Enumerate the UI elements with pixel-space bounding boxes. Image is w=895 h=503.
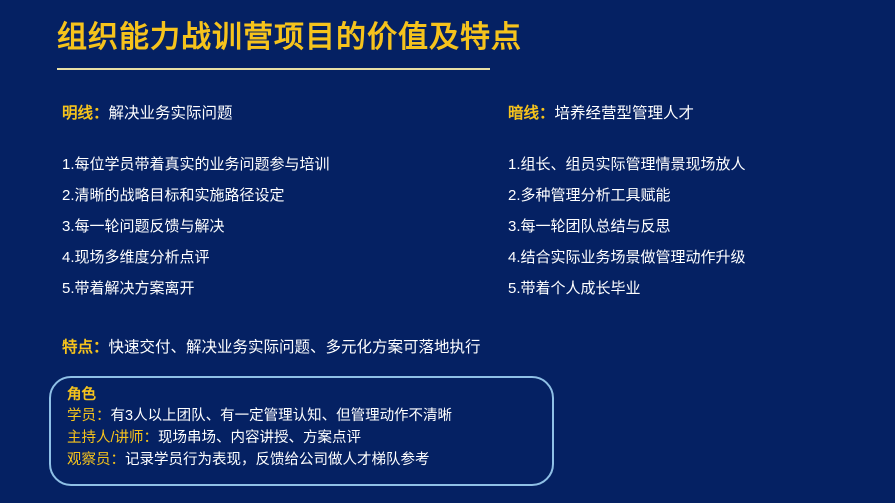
column-heading-anxian: 暗线：培养经营型管理人才 [508, 103, 895, 125]
role-label: 主持人/讲师 [67, 430, 144, 446]
role-item: 主持人/讲师：现场串场、内容讲授、方案点评 [67, 427, 552, 449]
role-item: 学员：有3人以上团队、有一定管理认知、但管理动作不清晰 [67, 405, 552, 427]
role-label: 学员 [67, 408, 96, 424]
list-item-number: 3. [508, 218, 521, 235]
list-item-number: 2. [62, 187, 75, 204]
list-item-text: 带着解决方案离开 [75, 280, 195, 297]
list-item-number: 3. [62, 218, 75, 235]
list-item: 3.每一轮问题反馈与解决 [62, 211, 470, 242]
list-item-number: 4. [508, 249, 521, 266]
features-line: 特点：快速交付、解决业务实际问题、多元化方案可落地执行 [62, 337, 481, 359]
column-label-mingxian: 明线 [62, 105, 93, 122]
list-item-number: 4. [62, 249, 75, 266]
role-label: 观察员 [67, 452, 111, 468]
content-columns: 明线：解决业务实际问题 1.每位学员带着真实的业务问题参与培训 2.清晰的战略目… [0, 103, 895, 304]
item-list-anxian: 1.组长、组员实际管理情景现场放人 2.多种管理分析工具赋能 3.每一轮团队总结… [508, 149, 895, 304]
roles-box: 角色 学员：有3人以上团队、有一定管理认知、但管理动作不清晰 主持人/讲师：现场… [49, 376, 554, 486]
list-item: 2.多种管理分析工具赋能 [508, 180, 895, 211]
role-value: 有3人以上团队、有一定管理认知、但管理动作不清晰 [111, 408, 453, 424]
list-item-text: 组长、组员实际管理情景现场放人 [521, 156, 746, 173]
page-title: 组织能力战训营项目的价值及特点 [57, 18, 817, 58]
features-value: 快速交付、解决业务实际问题、多元化方案可落地执行 [109, 339, 481, 356]
list-item: 1.组长、组员实际管理情景现场放人 [508, 149, 895, 180]
column-value-mingxian: 解决业务实际问题 [109, 105, 233, 122]
item-list-mingxian: 1.每位学员带着真实的业务问题参与培训 2.清晰的战略目标和实施路径设定 3.每… [62, 149, 470, 304]
role-item: 观察员：记录学员行为表现，反馈给公司做人才梯队参考 [67, 449, 552, 471]
list-item-text: 带着个人成长毕业 [521, 280, 641, 297]
roles-title: 角色 [67, 385, 552, 405]
list-item: 5.带着解决方案离开 [62, 273, 470, 304]
role-separator: ： [96, 408, 111, 424]
column-mingxian: 明线：解决业务实际问题 1.每位学员带着真实的业务问题参与培训 2.清晰的战略目… [0, 103, 470, 304]
title-divider [57, 68, 490, 70]
column-separator-mingxian: ： [93, 105, 109, 122]
list-item-number: 1. [62, 156, 75, 173]
list-item: 3.每一轮团队总结与反思 [508, 211, 895, 242]
list-item-text: 结合实际业务场景做管理动作升级 [521, 249, 746, 266]
list-item-number: 2. [508, 187, 521, 204]
column-value-anxian: 培养经营型管理人才 [555, 105, 695, 122]
column-separator-anxian: ： [539, 105, 555, 122]
role-value: 现场串场、内容讲授、方案点评 [158, 430, 361, 446]
list-item-number: 5. [62, 280, 75, 297]
column-heading-mingxian: 明线：解决业务实际问题 [62, 103, 470, 125]
list-item-text: 每一轮问题反馈与解决 [75, 218, 225, 235]
column-label-anxian: 暗线 [508, 105, 539, 122]
list-item-text: 清晰的战略目标和实施路径设定 [75, 187, 285, 204]
list-item: 1.每位学员带着真实的业务问题参与培训 [62, 149, 470, 180]
column-anxian: 暗线：培养经营型管理人才 1.组长、组员实际管理情景现场放人 2.多种管理分析工… [470, 103, 895, 304]
list-item: 4.结合实际业务场景做管理动作升级 [508, 242, 895, 273]
list-item-number: 5. [508, 280, 521, 297]
list-item: 5.带着个人成长毕业 [508, 273, 895, 304]
list-item-text: 每一轮团队总结与反思 [521, 218, 671, 235]
title-block: 组织能力战训营项目的价值及特点 [57, 18, 817, 70]
roles-list: 学员：有3人以上团队、有一定管理认知、但管理动作不清晰 主持人/讲师：现场串场、… [67, 405, 552, 471]
list-item-text: 每位学员带着真实的业务问题参与培训 [75, 156, 330, 173]
slide-canvas: 组织能力战训营项目的价值及特点 明线：解决业务实际问题 1.每位学员带着真实的业… [0, 0, 895, 503]
features-separator: ： [93, 339, 109, 356]
list-item-text: 现场多维度分析点评 [75, 249, 210, 266]
list-item-number: 1. [508, 156, 521, 173]
role-separator: ： [111, 452, 126, 468]
features-label: 特点 [62, 339, 93, 356]
role-value: 记录学员行为表现，反馈给公司做人才梯队参考 [125, 452, 430, 468]
list-item: 4.现场多维度分析点评 [62, 242, 470, 273]
role-separator: ： [144, 430, 159, 446]
list-item-text: 多种管理分析工具赋能 [521, 187, 671, 204]
list-item: 2.清晰的战略目标和实施路径设定 [62, 180, 470, 211]
